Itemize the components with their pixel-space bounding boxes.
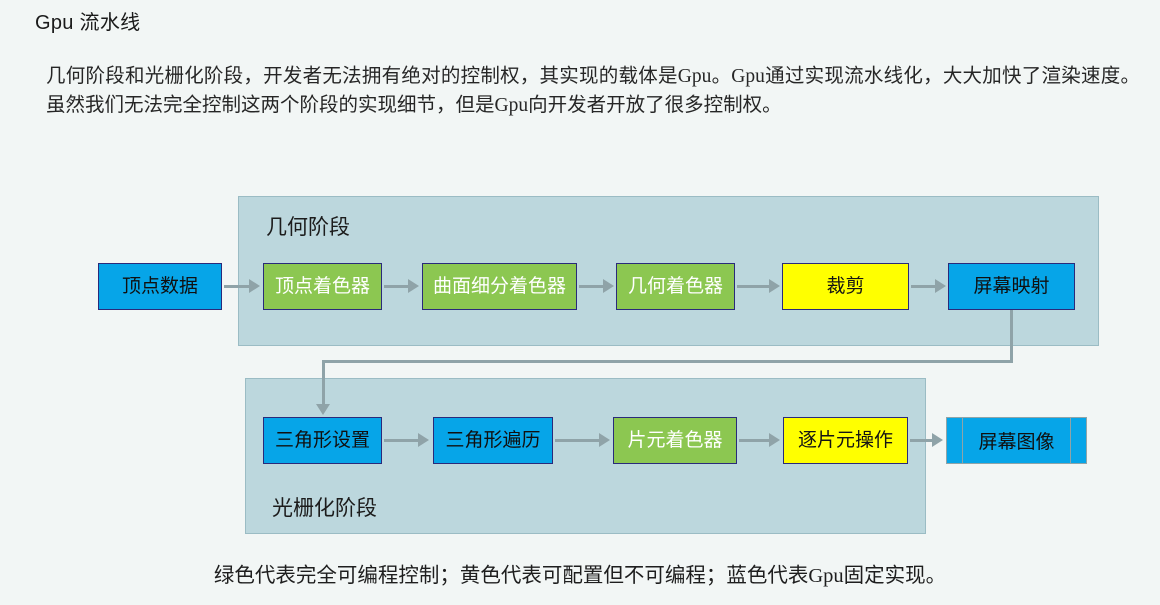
node-clipping[interactable]: 裁剪: [782, 263, 909, 310]
cross-connector-horizontal: [322, 360, 1013, 363]
panel-geometry-stage-label: 几何阶段: [266, 211, 350, 241]
node-fragment-shader[interactable]: 片元着色器: [613, 417, 737, 464]
node-vertex-data[interactable]: 顶点数据: [98, 263, 222, 310]
node-triangle-traversal[interactable]: 三角形遍历: [433, 417, 553, 464]
node-screen-image[interactable]: 屏幕图像: [946, 417, 1087, 464]
screen-image-right-strip: [1070, 418, 1086, 463]
arrow-line-clip-to-screenmap: [911, 285, 935, 288]
cross-connector-vertical-down: [1010, 310, 1013, 363]
arrow-head-perfragop-to-screenimage: [932, 433, 943, 447]
arrow-head-vertexshader-to-tess: [408, 279, 419, 293]
arrow-line-vertexdata-to-vertexshader: [224, 285, 249, 288]
node-geometry-shader[interactable]: 几何着色器: [616, 263, 735, 310]
panel-rasterization-stage-label: 光栅化阶段: [272, 492, 377, 522]
arrow-line-perfragop-to-screenimage: [910, 439, 932, 442]
arrow-head-clip-to-screenmap: [935, 279, 946, 293]
arrow-head-tritraverse-to-fragshader: [599, 433, 610, 447]
gpu-pipeline-diagram: 几何阶段 光栅化阶段 顶点数据 顶点着色器 曲面细分着色器 几何着色器 裁: [0, 0, 1160, 605]
arrow-line-tritraverse-to-fragshader: [555, 439, 599, 442]
node-screen-mapping[interactable]: 屏幕映射: [948, 263, 1075, 310]
arrow-line-trisetup-to-tritraverse: [384, 439, 418, 442]
arrow-head-tess-to-geomshader: [603, 279, 614, 293]
arrow-line-fragshader-to-perfragop: [739, 439, 769, 442]
node-triangle-setup[interactable]: 三角形设置: [263, 417, 382, 464]
arrow-line-geomshader-to-clip: [737, 285, 769, 288]
arrow-line-tess-to-geomshader: [579, 285, 603, 288]
arrow-head-geomshader-to-clip: [769, 279, 780, 293]
legend-caption: 绿色代表完全可编程控制；黄色代表可配置但不可编程；蓝色代表Gpu固定实现。: [0, 558, 1160, 588]
node-vertex-shader[interactable]: 顶点着色器: [263, 263, 382, 310]
node-per-fragment-operations[interactable]: 逐片元操作: [783, 417, 908, 464]
arrow-head-trisetup-to-tritraverse: [418, 433, 429, 447]
arrow-line-vertexshader-to-tess: [384, 285, 408, 288]
node-tessellation-shader[interactable]: 曲面细分着色器: [422, 263, 577, 310]
screen-image-left-strip: [947, 418, 963, 463]
node-screen-image-label: 屏幕图像: [963, 418, 1070, 463]
arrow-head-vertexdata-to-vertexshader: [249, 279, 260, 293]
cross-connector-arrow-head: [316, 404, 330, 415]
cross-connector-vertical-into-raster: [322, 360, 325, 405]
arrow-head-fragshader-to-perfragop: [769, 433, 780, 447]
